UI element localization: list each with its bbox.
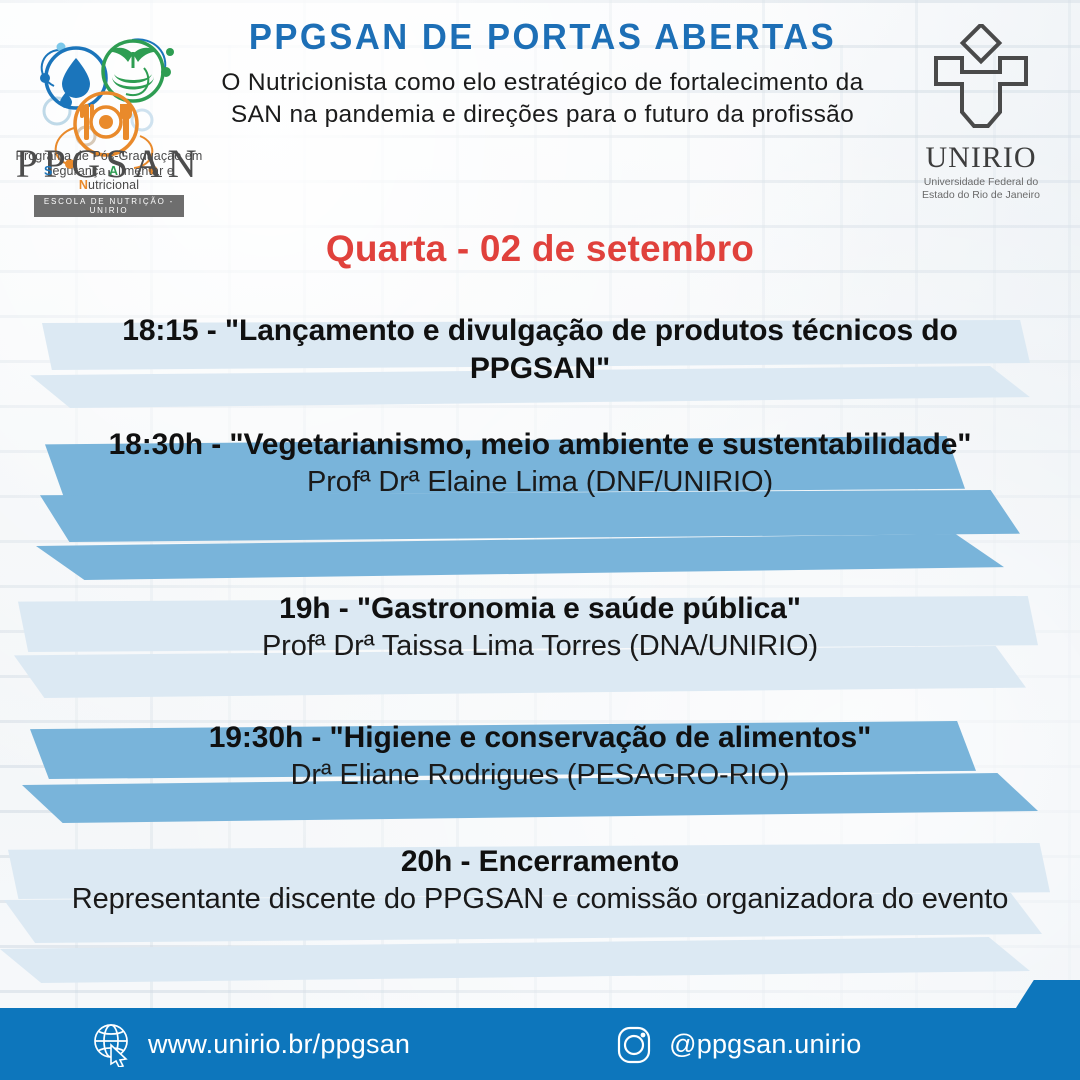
website-link[interactable]: www.unirio.br/ppgsan	[92, 1021, 410, 1067]
unirio-wordmark: UNIRIO	[896, 143, 1066, 173]
unirio-logo-graphic	[896, 24, 1066, 136]
schedule-item-speaker: Profª Drª Taissa Lima Torres (DNA/UNIRIO…	[70, 628, 1010, 664]
schedule-list: 18:15 - "Lançamento e divulgação de prod…	[0, 306, 1080, 991]
schedule-item: 19h - "Gastronomia e saúde pública" Prof…	[0, 584, 1080, 709]
schedule-item-speaker: Drª Eliane Rodrigues (PESAGRO-RIO)	[70, 757, 1010, 793]
schedule-item-speaker: Profª Drª Elaine Lima (DNF/UNIRIO)	[70, 464, 1010, 500]
ppgsan-logo: PPGSAN Programa de Pós-Graduação em Segu…	[14, 16, 204, 196]
schedule-item: 19:30h - "Higiene e conservação de alime…	[0, 713, 1080, 833]
event-subtitle: O Nutricionista como elo estratégico de …	[200, 67, 885, 132]
poster-header: PPGSAN Programa de Pós-Graduação em Segu…	[0, 0, 1080, 200]
schedule-item-title: 20h - Encerramento	[70, 843, 1010, 881]
event-date: Quarta - 02 de setembro	[0, 228, 1080, 270]
unirio-sub-line1: Universidade Federal do	[896, 176, 1066, 189]
instagram-icon	[613, 1021, 655, 1067]
highlight-swash	[36, 534, 1004, 580]
globe-cursor-icon	[92, 1021, 134, 1067]
schedule-item-speaker: Representante discente do PPGSAN e comis…	[70, 881, 1010, 917]
schedule-item-text: 18:30h - "Vegetarianismo, meio ambiente …	[0, 420, 1080, 508]
highlight-swash	[0, 937, 1030, 983]
instagram-link[interactable]: @ppgsan.unirio	[613, 1021, 861, 1067]
schedule-item-title: 19:30h - "Higiene e conservação de alime…	[70, 719, 1010, 757]
website-label: www.unirio.br/ppgsan	[148, 1029, 410, 1060]
header-text-block: PPGSAN DE PORTAS ABERTAS O Nutricionista…	[200, 18, 885, 131]
poster-footer: www.unirio.br/ppgsan @ppgsan.unirio	[0, 1008, 1080, 1080]
unirio-sub-line2: Estado do Rio de Janeiro	[896, 189, 1066, 202]
event-title: PPGSAN DE PORTAS ABERTAS	[214, 18, 872, 56]
schedule-item: 20h - Encerramento Representante discent…	[0, 837, 1080, 987]
schedule-item-text: 19:30h - "Higiene e conservação de alime…	[0, 713, 1080, 801]
schedule-item: 18:30h - "Vegetarianismo, meio ambiente …	[0, 420, 1080, 580]
schedule-item-text: 18:15 - "Lançamento e divulgação de prod…	[0, 306, 1080, 396]
ppgsan-logo-line1: Programa de Pós-Graduação em	[14, 149, 204, 163]
schedule-item-title: 18:15 - "Lançamento e divulgação de prod…	[70, 312, 1010, 388]
schedule-item-title: 18:30h - "Vegetarianismo, meio ambiente …	[70, 426, 1010, 464]
ppgsan-logo-ribbon: ESCOLA DE NUTRIÇÃO - UNIRIO	[34, 195, 184, 217]
ppgsan-logo-line2: Segurança Alimentar e Nutricional	[14, 164, 204, 192]
schedule-item: 18:15 - "Lançamento e divulgação de prod…	[0, 306, 1080, 416]
unirio-logo: UNIRIO Universidade Federal do Estado do…	[896, 24, 1066, 194]
instagram-label: @ppgsan.unirio	[669, 1029, 861, 1060]
schedule-item-text: 20h - Encerramento Representante discent…	[0, 837, 1080, 925]
schedule-item-title: 19h - "Gastronomia e saúde pública"	[70, 590, 1010, 628]
schedule-item-text: 19h - "Gastronomia e saúde pública" Prof…	[0, 584, 1080, 672]
event-poster: PPGSAN Programa de Pós-Graduação em Segu…	[0, 0, 1080, 1080]
